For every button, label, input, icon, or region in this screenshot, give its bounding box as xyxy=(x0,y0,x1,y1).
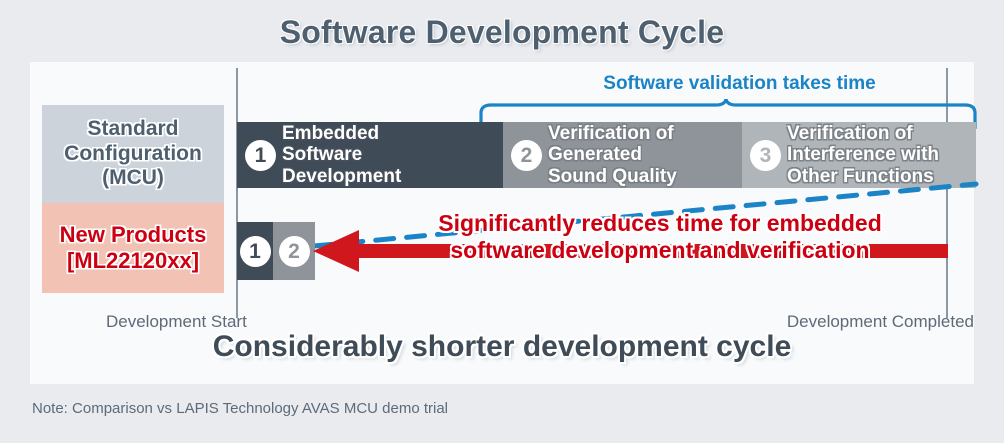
category-label-standard-configuration: Standard Configuration (MCU) xyxy=(42,105,224,203)
timeline-start-rule xyxy=(236,68,238,318)
category-new-line-1: New Products xyxy=(60,222,207,248)
phase-label-1: Embedded Software Development xyxy=(282,123,401,187)
phase-number-3: 3 xyxy=(750,140,781,171)
category-standard-line-2: Configuration xyxy=(64,142,202,166)
new-product-phase-block-1: 1 xyxy=(237,222,273,280)
category-label-new-products: New Products [ML22120xx] xyxy=(42,203,224,293)
page-title: Software Development Cycle xyxy=(0,14,1004,51)
category-standard-line-1: Standard xyxy=(87,117,178,141)
phase-number-1: 1 xyxy=(245,140,276,171)
category-standard-line-3: (MCU) xyxy=(102,166,164,190)
phase-number-2: 2 xyxy=(511,140,542,171)
new-product-phase-number-2: 2 xyxy=(279,236,310,267)
phase-label-2: Verification of Generated Sound Quality xyxy=(548,123,677,187)
footnote-text: Note: Comparison vs LAPIS Technology AVA… xyxy=(32,400,448,417)
validation-caption: Software validation takes time xyxy=(503,73,976,95)
conclusion-text: Considerably shorter development cycle xyxy=(30,330,974,364)
new-product-phase-number-1: 1 xyxy=(240,236,271,267)
new-product-phase-block-2: 2 xyxy=(273,222,315,280)
phase-block-1: 1 Embedded Software Development xyxy=(237,122,503,188)
phase-label-3: Verification of Interference with Other … xyxy=(787,123,939,187)
axis-label-development-completed: Development Completed xyxy=(787,312,974,332)
diagram-panel: Standard Configuration (MCU) New Product… xyxy=(30,62,974,384)
axis-label-development-start: Development Start xyxy=(106,312,247,332)
reduction-caption: Significantly reduces time for embedded … xyxy=(360,210,960,263)
phase-block-3: 3 Verification of Interference with Othe… xyxy=(742,122,976,188)
phase-block-2: 2 Verification of Generated Sound Qualit… xyxy=(503,122,742,188)
category-new-line-2: [ML22120xx] xyxy=(67,248,199,274)
